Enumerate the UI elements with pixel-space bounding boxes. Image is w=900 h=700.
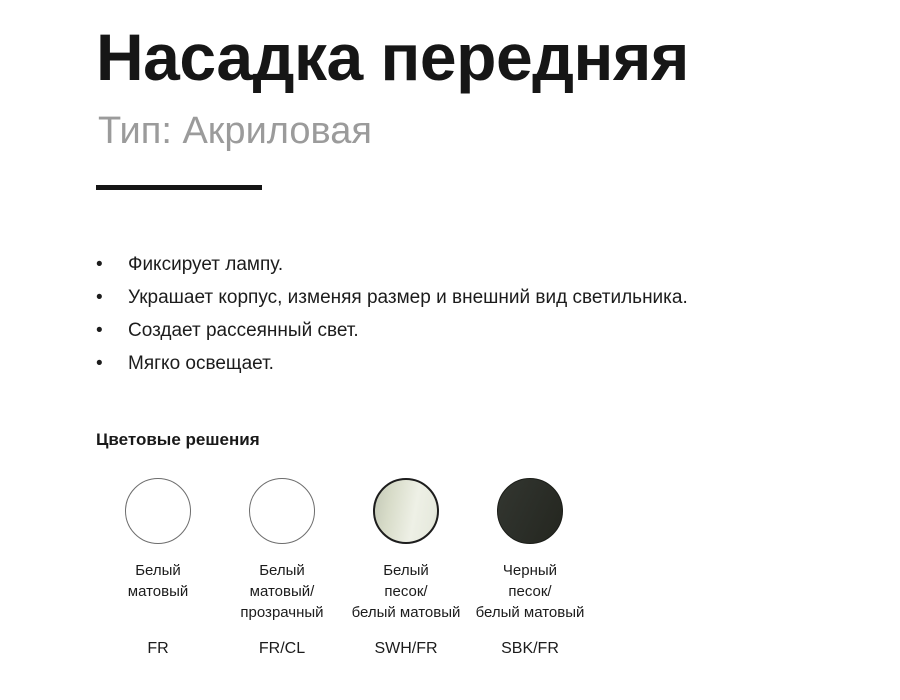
swatch-label: Белый матовый/ прозрачный — [219, 560, 345, 623]
bullet-icon: • — [96, 347, 108, 380]
swatch-code: SWH/FR — [344, 639, 468, 659]
swatch-label: Белый песок/ белый матовый — [343, 560, 469, 623]
circle-swatch-icon — [125, 478, 191, 544]
page-subtitle: Тип: Акриловая — [98, 112, 856, 150]
list-item-text: Фиксирует лампу. — [128, 254, 283, 275]
page-title: Насадка передняя — [96, 24, 856, 90]
list-item: • Фиксирует лампу. — [96, 248, 856, 281]
swatch-label-line: песок/ — [343, 581, 469, 602]
swatch-label-line: Белый — [343, 560, 469, 581]
swatch-circle-wrap — [497, 476, 563, 546]
swatch-label-line: Белый — [95, 560, 221, 581]
swatch-label-line: Белый — [219, 560, 345, 581]
swatch-label-line: Черный — [467, 560, 593, 581]
circle-swatch-icon — [249, 478, 315, 544]
swatch-label: Белый матовый — [95, 560, 221, 602]
swatch-code: SBK/FR — [468, 639, 592, 659]
circle-swatch-icon — [373, 478, 439, 544]
color-swatch-sbkfr[interactable]: Черный песок/ белый матовый — [468, 476, 592, 623]
document-page: Насадка передняя Тип: Акриловая • Фиксир… — [0, 0, 900, 700]
list-item: • Мягко освещает. — [96, 347, 856, 380]
color-options-section: Цветовые решения Белый матовый Белый мат… — [96, 430, 856, 659]
swatch-circle-wrap — [373, 476, 439, 546]
swatch-circle-wrap — [125, 476, 191, 546]
header: Насадка передняя Тип: Акриловая — [96, 24, 856, 190]
feature-list: • Фиксирует лампу. • Украшает корпус, из… — [96, 248, 856, 380]
bullet-icon: • — [96, 281, 108, 314]
swatch-circle-wrap — [249, 476, 315, 546]
swatch-label-line: белый матовый — [467, 602, 593, 623]
circle-swatch-icon — [497, 478, 563, 544]
bullet-icon: • — [96, 314, 108, 347]
swatch-label-line: матовый/ — [219, 581, 345, 602]
color-swatch-frcl[interactable]: Белый матовый/ прозрачный — [220, 476, 344, 623]
list-item-text: Украшает корпус, изменяя размер и внешни… — [128, 287, 688, 308]
list-item: • Создает рассеянный свет. — [96, 314, 856, 347]
color-swatch-fr[interactable]: Белый матовый — [96, 476, 220, 623]
color-code-row: FR FR/CL SWH/FR SBK/FR — [96, 627, 856, 659]
swatch-label-line: матовый — [95, 581, 221, 602]
swatch-label-line: прозрачный — [219, 602, 345, 623]
swatch-label-line: песок/ — [467, 581, 593, 602]
list-item-text: Мягко освещает. — [128, 353, 274, 374]
list-item-text: Создает рассеянный свет. — [128, 320, 359, 341]
swatch-code: FR — [96, 639, 220, 659]
swatch-label: Черный песок/ белый матовый — [467, 560, 593, 623]
swatch-code: FR/CL — [220, 639, 344, 659]
bullet-icon: • — [96, 248, 108, 281]
color-swatch-swhfr[interactable]: Белый песок/ белый матовый — [344, 476, 468, 623]
color-swatch-row: Белый матовый Белый матовый/ прозрачный — [96, 476, 856, 623]
swatch-label-line: белый матовый — [343, 602, 469, 623]
color-options-heading: Цветовые решения — [96, 430, 856, 450]
list-item: • Украшает корпус, изменяя размер и внеш… — [96, 281, 856, 314]
header-divider — [96, 185, 262, 190]
